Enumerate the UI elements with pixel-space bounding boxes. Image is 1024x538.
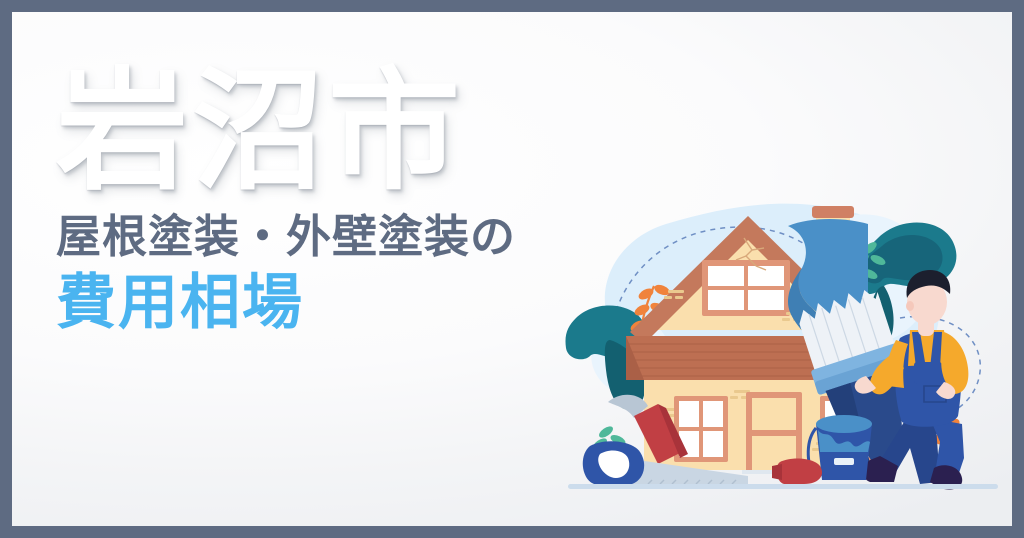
bucket-label <box>834 458 854 465</box>
house-painting-illustration <box>548 190 1012 520</box>
screwdriver-collar <box>772 464 782 480</box>
ground-line <box>568 484 998 489</box>
overall-bib <box>914 362 942 384</box>
banner-frame: 岩沼市 屋根塗装・外壁塗装の 費用相場 <box>0 0 1024 538</box>
screwdriver-handle <box>777 459 823 484</box>
chimney-cap <box>812 206 854 218</box>
banner-canvas: 岩沼市 屋根塗装・外壁塗装の 費用相場 <box>12 12 1012 526</box>
bucket-rim <box>816 415 872 433</box>
page-title: 岩沼市 <box>56 66 656 198</box>
painter-ear <box>906 301 914 311</box>
